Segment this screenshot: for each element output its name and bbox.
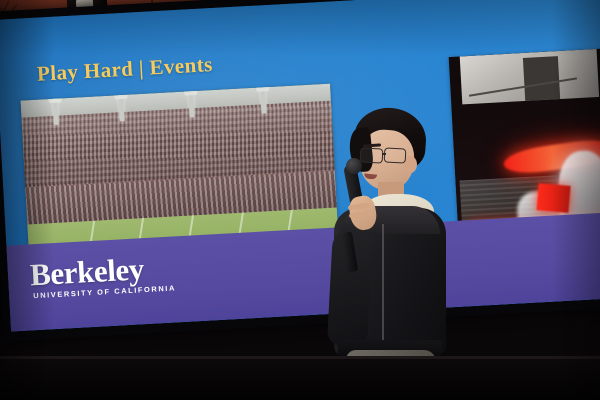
stadium-light-pole [52, 99, 58, 125]
glasses-bridge [382, 153, 386, 155]
concert-top-object [523, 56, 560, 101]
projection-screen: Play Hard | Events STANFORD [0, 0, 600, 332]
presenter-jacket-zipper [382, 224, 384, 342]
berkeley-logo: Berkeley UNIVERSITY OF CALIFORNIA [29, 253, 173, 301]
stadium-light-pole [188, 91, 194, 117]
presenter-ear [404, 156, 417, 173]
floor-edge [0, 356, 600, 359]
stadium-light-pole [118, 95, 124, 121]
screenshot-stage: Play Hard | Events STANFORD [0, 0, 600, 400]
glasses-icon [384, 147, 407, 163]
stage-floor [0, 356, 600, 400]
stadium-light-pole [260, 87, 266, 113]
glasses-icon [360, 147, 384, 163]
concert-red-graphic [537, 184, 571, 213]
